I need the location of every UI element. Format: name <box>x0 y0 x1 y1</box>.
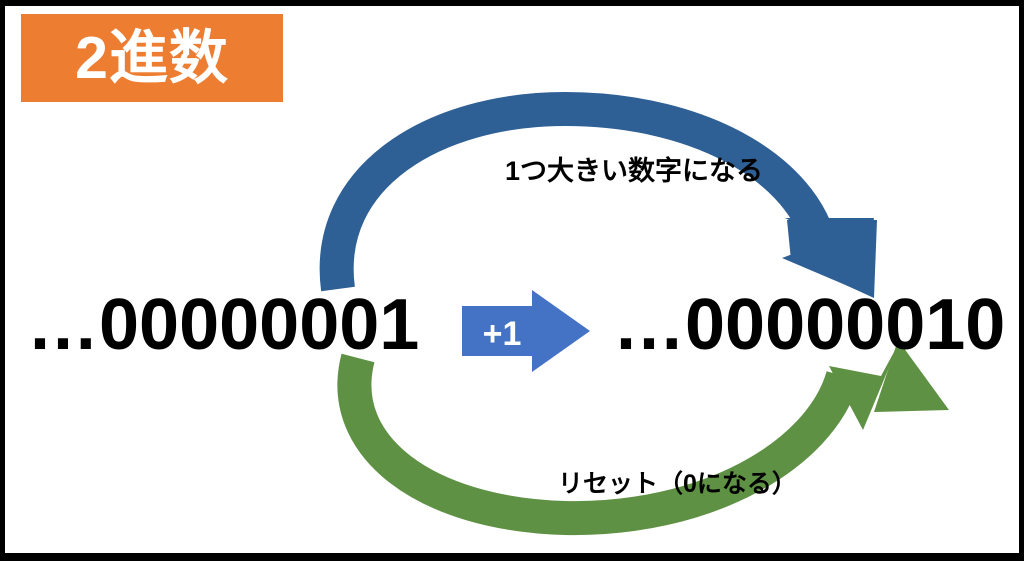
top-arrow-label: 1つ大きい数字になる <box>505 158 763 185</box>
slide-canvas: 2進数 +1 …00000001 …00000010 1つ大きい数字になる リセ… <box>0 0 1024 561</box>
top-curve <box>337 109 877 298</box>
operation-arrow-wrapper: +1 <box>462 297 590 383</box>
left-binary-value: …00000001 <box>27 289 419 361</box>
right-binary-value: …00000010 <box>613 289 1005 361</box>
operation-label: +1 <box>472 317 532 351</box>
bottom-arrow-label: リセット（0になる） <box>558 472 797 497</box>
diagram-graphics <box>5 6 1019 553</box>
